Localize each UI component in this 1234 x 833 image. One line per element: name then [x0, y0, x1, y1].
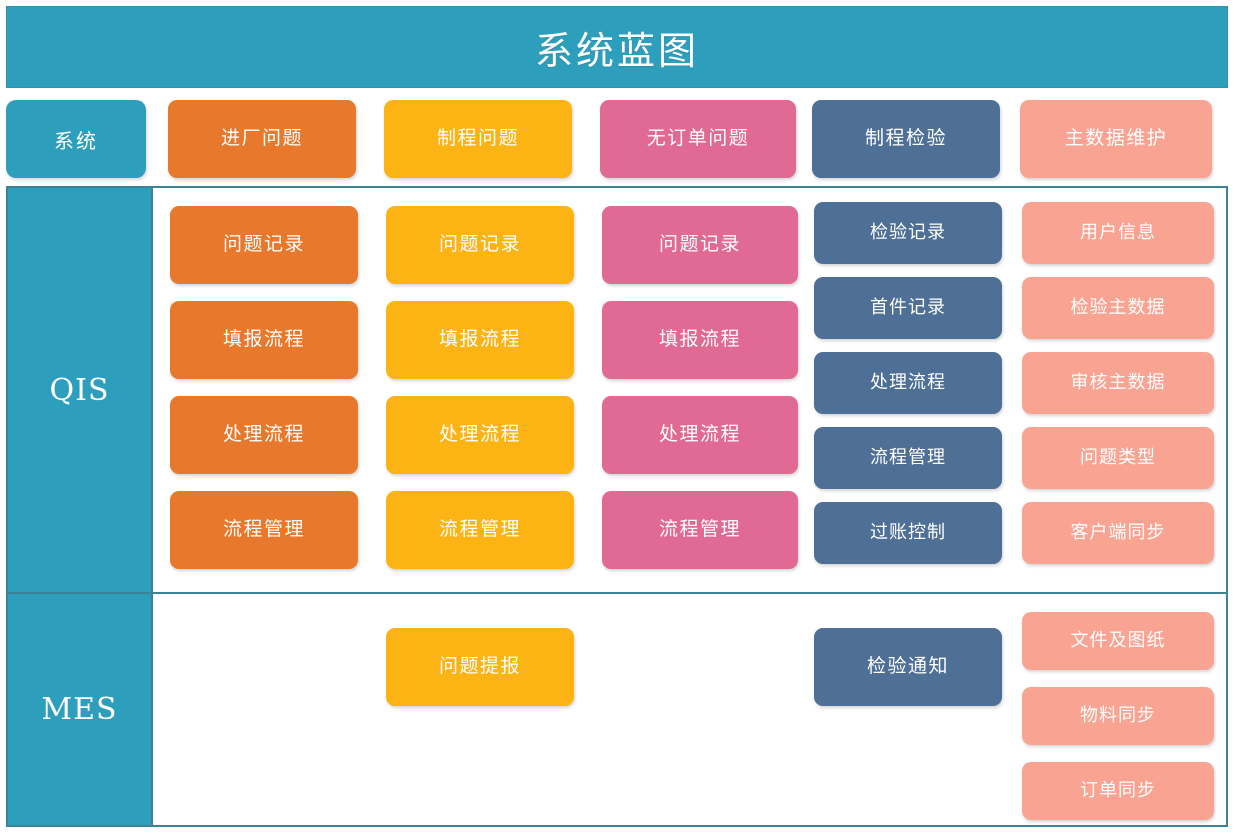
- mes-col5-item3[interactable]: 订单同步: [1022, 762, 1214, 820]
- row-divider: [8, 592, 1226, 594]
- qis-col1-item4[interactable]: 流程管理: [170, 491, 358, 569]
- qis-col4-item3[interactable]: 处理流程: [814, 352, 1002, 414]
- qis-col4-item1[interactable]: 检验记录: [814, 202, 1002, 264]
- qis-col2-item3[interactable]: 处理流程: [386, 396, 574, 474]
- qis-col5-item4[interactable]: 问题类型: [1022, 427, 1214, 489]
- qis-col2-item1[interactable]: 问题记录: [386, 206, 574, 284]
- mes-col5-item1[interactable]: 文件及图纸: [1022, 612, 1214, 670]
- header-category-3[interactable]: 无订单问题: [600, 100, 796, 178]
- header-category-5[interactable]: 主数据维护: [1020, 100, 1212, 178]
- qis-col5-item1[interactable]: 用户信息: [1022, 202, 1214, 264]
- row-label-mes: MES: [8, 594, 151, 825]
- qis-col3-item2[interactable]: 填报流程: [602, 301, 798, 379]
- qis-col3-item1[interactable]: 问题记录: [602, 206, 798, 284]
- qis-col4-item5[interactable]: 过账控制: [814, 502, 1002, 564]
- header-category-4[interactable]: 制程检验: [812, 100, 1000, 178]
- column-divider: [151, 188, 153, 825]
- title-banner: 系统蓝图: [6, 6, 1228, 88]
- qis-col5-item5[interactable]: 客户端同步: [1022, 502, 1214, 564]
- mes-col5-item2[interactable]: 物料同步: [1022, 687, 1214, 745]
- qis-col2-item2[interactable]: 填报流程: [386, 301, 574, 379]
- qis-col4-item4[interactable]: 流程管理: [814, 427, 1002, 489]
- mes-col2-item1[interactable]: 问题提报: [386, 628, 574, 706]
- qis-col1-item2[interactable]: 填报流程: [170, 301, 358, 379]
- qis-col5-item3[interactable]: 审核主数据: [1022, 352, 1214, 414]
- qis-col5-item2[interactable]: 检验主数据: [1022, 277, 1214, 339]
- header-row: 系统 进厂问题制程问题无订单问题制程检验主数据维护: [6, 98, 1228, 182]
- header-category-2[interactable]: 制程问题: [384, 100, 572, 178]
- system-blueprint-diagram: 系统蓝图 系统 进厂问题制程问题无订单问题制程检验主数据维护 QIS MES 问…: [0, 0, 1234, 833]
- header-category-1[interactable]: 进厂问题: [168, 100, 356, 178]
- qis-col1-item1[interactable]: 问题记录: [170, 206, 358, 284]
- row-label-qis: QIS: [8, 188, 151, 592]
- header-row-label: 系统: [6, 100, 146, 178]
- page-title: 系统蓝图: [535, 20, 699, 75]
- qis-col3-item4[interactable]: 流程管理: [602, 491, 798, 569]
- mes-col4-item1[interactable]: 检验通知: [814, 628, 1002, 706]
- qis-col4-item2[interactable]: 首件记录: [814, 277, 1002, 339]
- qis-col2-item4[interactable]: 流程管理: [386, 491, 574, 569]
- qis-col1-item3[interactable]: 处理流程: [170, 396, 358, 474]
- matrix-frame: QIS MES 问题记录填报流程处理流程流程管理问题记录填报流程处理流程流程管理…: [6, 186, 1228, 827]
- qis-col3-item3[interactable]: 处理流程: [602, 396, 798, 474]
